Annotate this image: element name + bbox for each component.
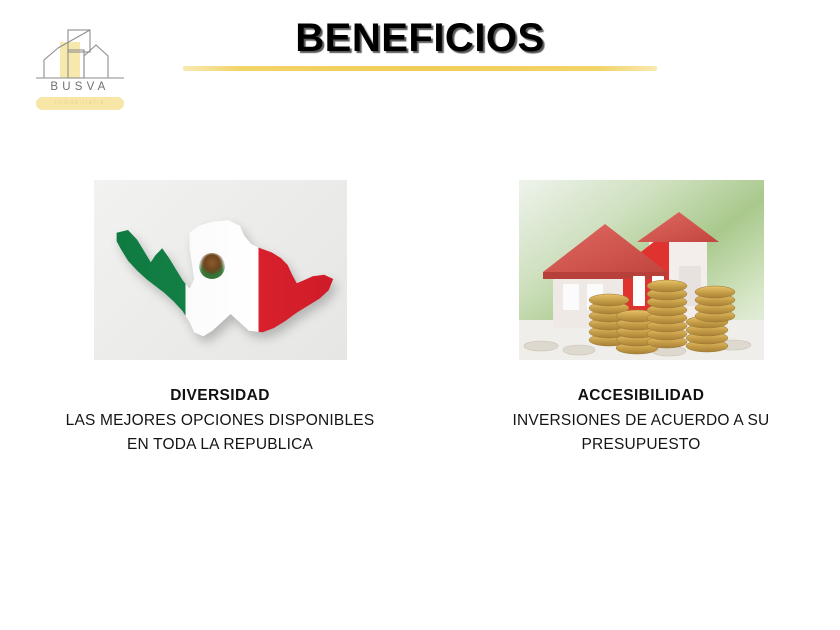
page-title: BENEFICIOS — [0, 16, 840, 61]
benefit-title: DIVERSIDAD — [22, 384, 418, 408]
house-and-coins-illustration — [519, 180, 764, 360]
benefit-caption: DIVERSIDAD LAS MEJORES OPCIONES DISPONIB… — [22, 384, 418, 457]
mexico-map-flag-image — [94, 180, 347, 360]
benefit-description: LAS MEJORES OPCIONES DISPONIBLES EN TODA… — [22, 409, 418, 457]
title-underline-rule — [183, 66, 657, 71]
benefit-description-line: LAS MEJORES OPCIONES DISPONIBLES — [22, 409, 418, 433]
benefit-column-diversidad: DIVERSIDAD LAS MEJORES OPCIONES DISPONIB… — [22, 180, 418, 457]
benefit-caption: ACCESIBILIDAD INVERSIONES DE ACUERDO A S… — [452, 384, 830, 457]
benefit-column-accesibilidad: ACCESIBILIDAD INVERSIONES DE ACUERDO A S… — [452, 180, 830, 457]
mexico-eagle-emblem-icon — [199, 253, 225, 279]
mexico-map-shape — [108, 202, 336, 342]
logo-tagline: Inmobiliaria — [28, 98, 132, 109]
benefit-description: INVERSIONES DE ACUERDO A SU PRESUPUESTO — [452, 409, 830, 457]
benefit-description-line: EN TODA LA REPUBLICA — [22, 433, 418, 457]
logo-wordmark: BUSVA — [28, 81, 132, 93]
house-and-coins-image — [519, 180, 764, 360]
benefit-title: ACCESIBILIDAD — [452, 384, 830, 408]
benefit-description-line: PRESUPUESTO — [452, 433, 830, 457]
benefit-description-line: INVERSIONES DE ACUERDO A SU — [452, 409, 830, 433]
